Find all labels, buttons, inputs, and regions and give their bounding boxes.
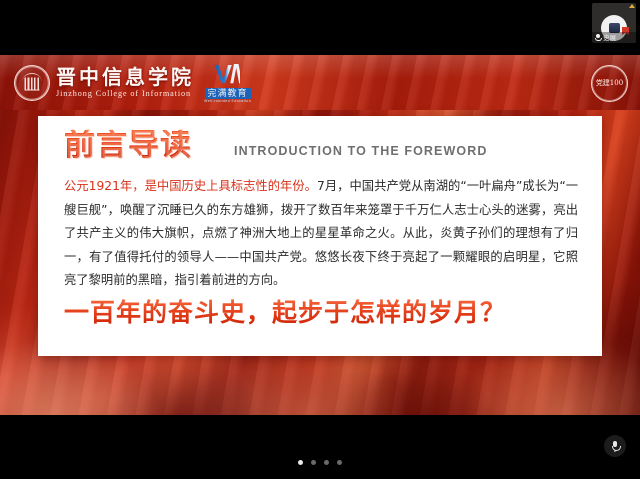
mic-toggle-button[interactable] [604, 435, 626, 457]
participant-name: 史展 [603, 33, 616, 42]
card-title-row: 前言导读 INTRODUCTION TO THE FOREWORD [38, 116, 602, 161]
anniversary-badge-icon: 党建100 [591, 65, 628, 102]
paragraph-highlight: 公元1921年，是中国历史上具标志性的年份。 [64, 179, 317, 193]
partner-logo: V/\ 完满教育 Well-rounded Education [204, 61, 251, 104]
page-dot-1[interactable] [298, 460, 303, 465]
slide-slogan: 一百年的奋斗史，起步于怎样的岁月？ [64, 299, 602, 327]
microphone-icon [611, 441, 619, 452]
school-names: 晋中信息学院 Jinzhong College of Information [56, 67, 194, 98]
seal-gate [25, 77, 40, 90]
pin-corner-icon[interactable] [629, 4, 635, 8]
mic-stand [614, 450, 615, 452]
bottom-bar [0, 415, 640, 479]
screen-root: 晋中信息学院 Jinzhong College of Information V… [0, 0, 640, 479]
slide-brand-bar: 晋中信息学院 Jinzhong College of Information V… [0, 55, 640, 110]
page-title: 前言导读 [64, 130, 192, 161]
page-dot-2[interactable] [311, 460, 316, 465]
top-letterbox [0, 0, 640, 55]
partner-mark: V/\ [215, 61, 241, 87]
paragraph-rest: 7月，中国共产党从南湖的“一叶扁舟”成长为“一艘巨舰”，唤醒了沉睡已久的东方雄狮… [64, 179, 578, 287]
page-dot-3[interactable] [324, 460, 329, 465]
participant-name-bar: 史展 [592, 32, 636, 43]
school-name-en: Jinzhong College of Information [56, 90, 194, 98]
school-logo: 晋中信息学院 Jinzhong College of Information [14, 65, 194, 101]
school-name-cn: 晋中信息学院 [56, 67, 194, 87]
participant-video-tile[interactable]: 史展 [592, 3, 636, 43]
body-paragraph: 公元1921年，是中国历史上具标志性的年份。7月，中国共产党从南湖的“一叶扁舟”… [64, 175, 578, 293]
microphone-icon[interactable] [595, 34, 601, 42]
content-card: 前言导读 INTRODUCTION TO THE FOREWORD 公元1921… [38, 116, 602, 356]
partner-name-en: Well-rounded Education [204, 100, 251, 104]
page-dot-4[interactable] [337, 460, 342, 465]
school-seal-icon [14, 65, 50, 101]
partner-name-cn: 完满教育 [205, 88, 251, 99]
presentation-slide[interactable]: 晋中信息学院 Jinzhong College of Information V… [0, 55, 640, 415]
page-subtitle: INTRODUCTION TO THE FOREWORD [234, 144, 487, 158]
page-indicator[interactable] [298, 460, 342, 465]
